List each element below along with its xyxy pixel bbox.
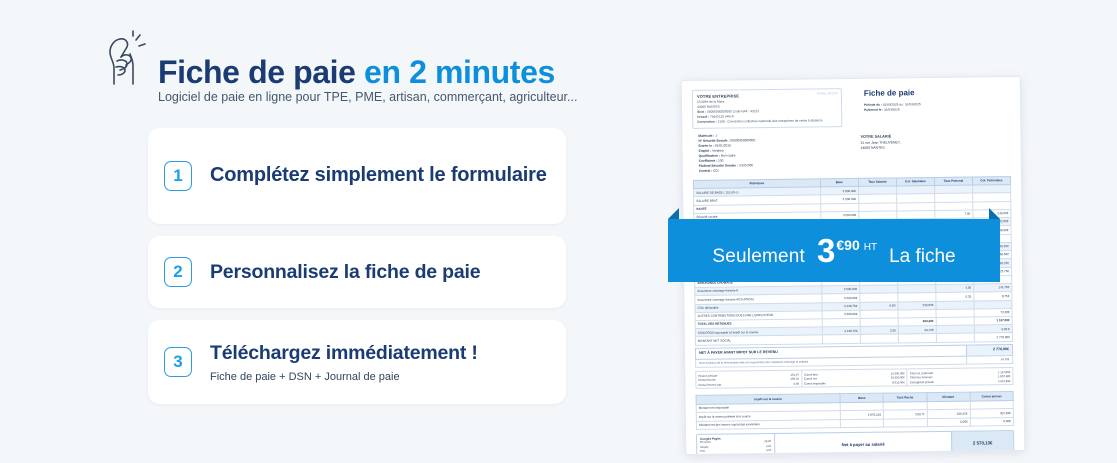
payslip-title: Fiche de paie xyxy=(864,86,1010,100)
income-tax-table: Impôt sur le revenuBaseTaux RecheMontant… xyxy=(696,391,1014,429)
ribbon-word: Seulement xyxy=(712,246,805,268)
employee-info-line: Contrat : CDI xyxy=(699,168,756,174)
price-ribbon: Seulement 3 €90 HT La fiche xyxy=(668,219,1000,282)
payment-label: Paiement le : xyxy=(864,108,883,112)
table-cell: MONTANT NET SOCIAL xyxy=(695,335,822,345)
employee-info-block: Matricule : 1N° Sécurité Sociale : 00000… xyxy=(692,133,755,173)
step-body-1: Complétez simplement le formulaire xyxy=(210,163,550,189)
convention-value: 2198 : Convention collective nationale d… xyxy=(718,118,823,123)
logo-placeholder: VOTRE LOGO ICI xyxy=(817,92,838,96)
urssaf-label: Urssaf : xyxy=(697,115,709,119)
net-before-tax-value: 2 770,90€ xyxy=(966,345,1012,356)
left-column: Fiche de paie en 2 minutes Logiciel de p… xyxy=(0,0,640,463)
ribbon-tax-label: HT xyxy=(864,242,877,253)
ribbon-tail: La fiche xyxy=(889,246,956,268)
ribbon-fold-left xyxy=(668,208,679,219)
table-cell xyxy=(898,334,936,343)
employee-address-2: 44000 NANTES xyxy=(861,144,1011,151)
conges-row: Solde0,00 xyxy=(700,453,771,455)
finger-snap-icon xyxy=(100,30,150,88)
totals-row: Coût global période4 697,89€ xyxy=(910,379,1011,385)
ribbon-text: Seulement 3 €90 HT La fiche xyxy=(712,232,955,270)
tax-cell xyxy=(840,419,883,428)
step-card-2[interactable]: 2 Personnalisez la fiche de paie xyxy=(148,236,566,308)
step-badge-1: 1 xyxy=(164,161,192,191)
payment-value: 31/03/2025 xyxy=(884,108,900,112)
totals-right: Total cot. patronale1 197,89€Total des r… xyxy=(907,368,1013,385)
period-value: 01/03/2025 au : 31/03/2025 xyxy=(883,103,921,107)
totals-row: Cumul heures sup.0,00 xyxy=(698,381,799,387)
tax-body: Montant net imposableImpôt sur le revenu… xyxy=(696,401,1013,430)
table-cell xyxy=(822,335,860,344)
siret-label: Siret : xyxy=(697,110,706,114)
totals-panel: Heures période151,67Cumul heures455,01Cu… xyxy=(695,367,1013,389)
conges-rows: En cours25,00Acquis0,00Pris0,00Solde0,00 xyxy=(700,440,771,455)
step-card-1[interactable]: 1 Complétez simplement le formulaire xyxy=(148,128,566,224)
hero-header: Fiche de paie en 2 minutes Logiciel de p… xyxy=(100,28,620,100)
net-note-value: 61,72€ xyxy=(966,356,1012,364)
urssaf-value: 79442132 (44) R xyxy=(710,114,734,118)
employee-address-block: VOTRE SALARIÉ 31 rue Jean THEUVENEY, 440… xyxy=(860,133,1010,171)
net-pay-label: Net à payer au salarié xyxy=(775,432,951,455)
step-title-2: Personnalisez la fiche de paie xyxy=(210,260,550,285)
tax-cell xyxy=(884,418,927,427)
table-cell: 2 770,90€ xyxy=(974,333,1012,342)
conges-payes-block: Congés Payés En cours25,00Acquis0,00Pris… xyxy=(697,434,775,455)
step-card-3[interactable]: 3 Téléchargez immédiatement ! Fiche de p… xyxy=(148,320,566,404)
step-subtitle-3: Fiche de paie + DSN + Journal de paie xyxy=(210,371,550,383)
payslip-header: VOTRE LOGO ICI VOTRE ENTREPRISE 15 Allée… xyxy=(692,86,1010,129)
ribbon-price: 3 xyxy=(817,232,835,270)
step-badge-3: 3 xyxy=(164,347,192,377)
company-block: VOTRE LOGO ICI VOTRE ENTREPRISE 15 Allée… xyxy=(692,88,842,129)
payslip-footer: Congés Payés En cours25,00Acquis0,00Pris… xyxy=(696,430,1014,455)
table-cell xyxy=(860,334,898,343)
landing-page: Fiche de paie en 2 minutes Logiciel de p… xyxy=(0,0,1117,463)
totals-left: Heures période151,67Cumul heures455,01Cu… xyxy=(696,371,801,388)
period-label: Période du : xyxy=(864,103,882,107)
totals-mid: Cumul brut10 500,00€Cumul net10 500,00€C… xyxy=(801,370,907,387)
page-subtitle: Logiciel de paie en ligne pour TPE, PME,… xyxy=(158,90,577,104)
ribbon-cents: €90 xyxy=(836,237,859,253)
totals-row: Cumul imposable8 610,00€ xyxy=(804,380,905,386)
tax-cell: 0,00€ xyxy=(927,418,970,427)
page-title-dark: Fiche de paie xyxy=(158,54,356,90)
page-title: Fiche de paie en 2 minutes xyxy=(158,54,555,91)
step-title-3: Téléchargez immédiatement ! xyxy=(210,341,550,366)
payslip-title-block: Fiche de paie Période du : 01/03/2025 au… xyxy=(860,86,1010,113)
page-title-accent: en 2 minutes xyxy=(364,54,555,90)
convention-label: Convention : xyxy=(697,120,717,124)
step-title-1: Complétez simplement le formulaire xyxy=(210,163,550,189)
tax-cell: Montant net des heures sup/compl exonéré… xyxy=(696,419,840,429)
table-cell xyxy=(936,333,974,342)
siret-value: 00000000000000 Code NAF : 4321Z xyxy=(707,109,759,114)
step-body-2: Personnalisez la fiche de paie xyxy=(210,260,550,285)
step-body-3: Téléchargez immédiatement ! Fiche de pai… xyxy=(210,341,550,383)
tax-cell: 0,00€ xyxy=(970,417,1013,426)
step-badge-2: 2 xyxy=(164,257,192,287)
net-pay-value: 2 570,13€ xyxy=(951,431,1013,455)
steps-list: 1 Complétez simplement le formulaire 2 P… xyxy=(148,128,566,416)
